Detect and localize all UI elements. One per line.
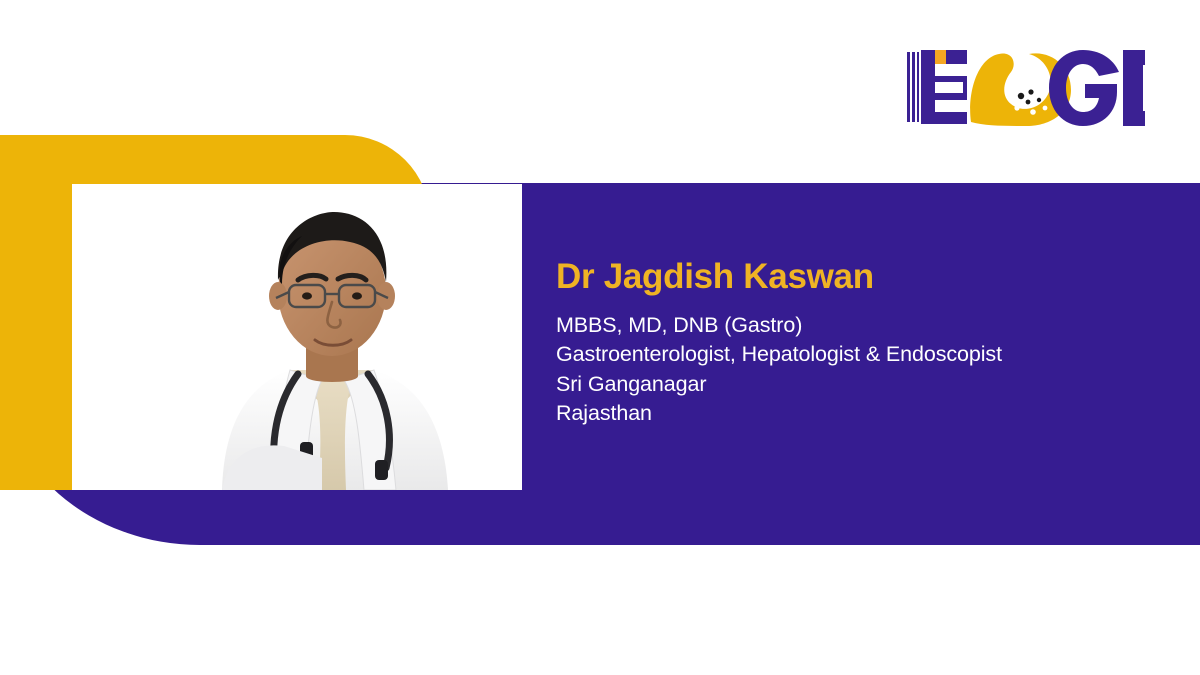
credential-line-1: MBBS, MD, DNB (Gastro)	[556, 311, 1196, 341]
edge-logo	[905, 48, 1145, 130]
doctor-name: Dr Jagdish Kaswan	[556, 258, 1196, 297]
credential-line-3: Sri Ganganagar	[556, 370, 1196, 400]
credential-line-2: Gastroenterologist, Hepatologist & Endos…	[556, 340, 1196, 370]
doctor-photo	[72, 184, 522, 490]
credential-line-4: Rajasthan	[556, 399, 1196, 429]
doctor-portrait-illustration	[172, 184, 492, 490]
logo-letter-e	[1123, 50, 1145, 126]
doctor-info: Dr Jagdish Kaswan MBBS, MD, DNB (Gastro)…	[556, 258, 1196, 429]
slide-canvas: Dr Jagdish Kaswan MBBS, MD, DNB (Gastro)…	[0, 0, 1200, 675]
logo-letter-g	[1049, 50, 1119, 126]
logo-letter-e-book	[907, 50, 969, 124]
